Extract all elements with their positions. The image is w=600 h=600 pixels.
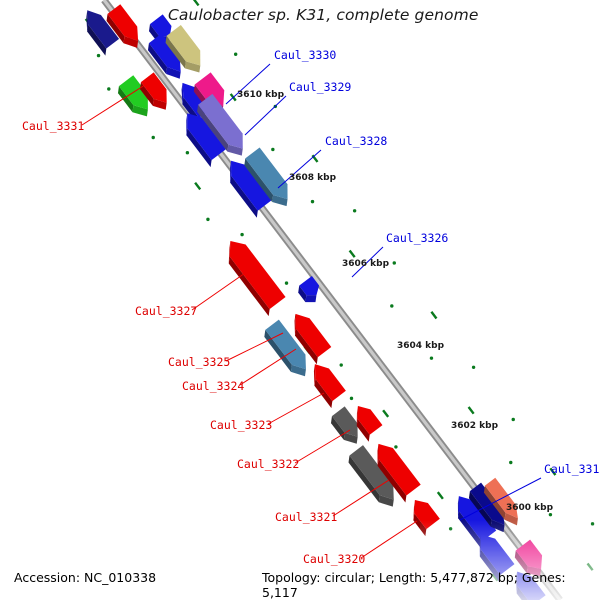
gene-labels-layer[interactable]: Caul_3331Caul_3330Caul_3329Caul_3328Caul… [22, 48, 600, 566]
gene-label-caul_3325[interactable]: Caul_3325 [168, 355, 230, 369]
scale-label-1: 3608 kbp [289, 173, 337, 183]
gene-label-leader-line [268, 393, 324, 424]
gene-label-caul_3326[interactable]: Caul_3326 [386, 231, 448, 245]
scale-label-2: 3606 kbp [342, 259, 390, 269]
gene-block[interactable] [218, 235, 288, 316]
gene-label-leader-line [192, 271, 248, 310]
gene-label-caul_3323[interactable]: Caul_3323 [210, 418, 272, 432]
gene-label-caul_3322[interactable]: Caul_3322 [237, 457, 299, 471]
gene-label-caul_3324[interactable]: Caul_3324 [182, 379, 244, 393]
page-title: Caulobacter sp. K31, complete genome [168, 6, 478, 24]
gene-label-leader-line [245, 96, 286, 135]
genome-summary-text: Topology: circular; Length: 5,477,872 bp… [262, 570, 600, 600]
scale-label-0: 3610 kbp [237, 90, 285, 100]
scale-label-5: 3600 kbp [506, 503, 554, 513]
accession-text: Accession: NC_010338 [14, 570, 156, 585]
gene-label-caul_3330[interactable]: Caul_3330 [274, 48, 336, 62]
genome-map-canvas[interactable]: Caul_3331Caul_3330Caul_3329Caul_3328Caul… [0, 0, 600, 600]
gene-label-caul_3328[interactable]: Caul_3328 [325, 134, 387, 148]
genome-map-svg[interactable]: Caul_3331Caul_3330Caul_3329Caul_3328Caul… [0, 0, 600, 600]
scale-labels-layer: 3610 kbp3608 kbp3606 kbp3604 kbp3602 kbp… [237, 90, 554, 513]
gene-label-caul_3329[interactable]: Caul_3329 [289, 80, 351, 94]
gene-label-leader-line [361, 521, 417, 558]
scale-label-4: 3602 kbp [451, 421, 499, 431]
gene-label-caul_3321[interactable]: Caul_3321 [275, 510, 337, 524]
gene-block-face [222, 235, 285, 309]
gene-label-caul_3319[interactable]: Caul_3319 [544, 462, 600, 476]
gene-label-caul_3320[interactable]: Caul_3320 [303, 552, 365, 566]
gene-label-caul_3331[interactable]: Caul_3331 [22, 119, 84, 133]
gene-label-caul_3327[interactable]: Caul_3327 [135, 304, 197, 318]
gene-label-leader-line [295, 430, 350, 463]
scale-label-3: 3604 kbp [397, 341, 445, 351]
